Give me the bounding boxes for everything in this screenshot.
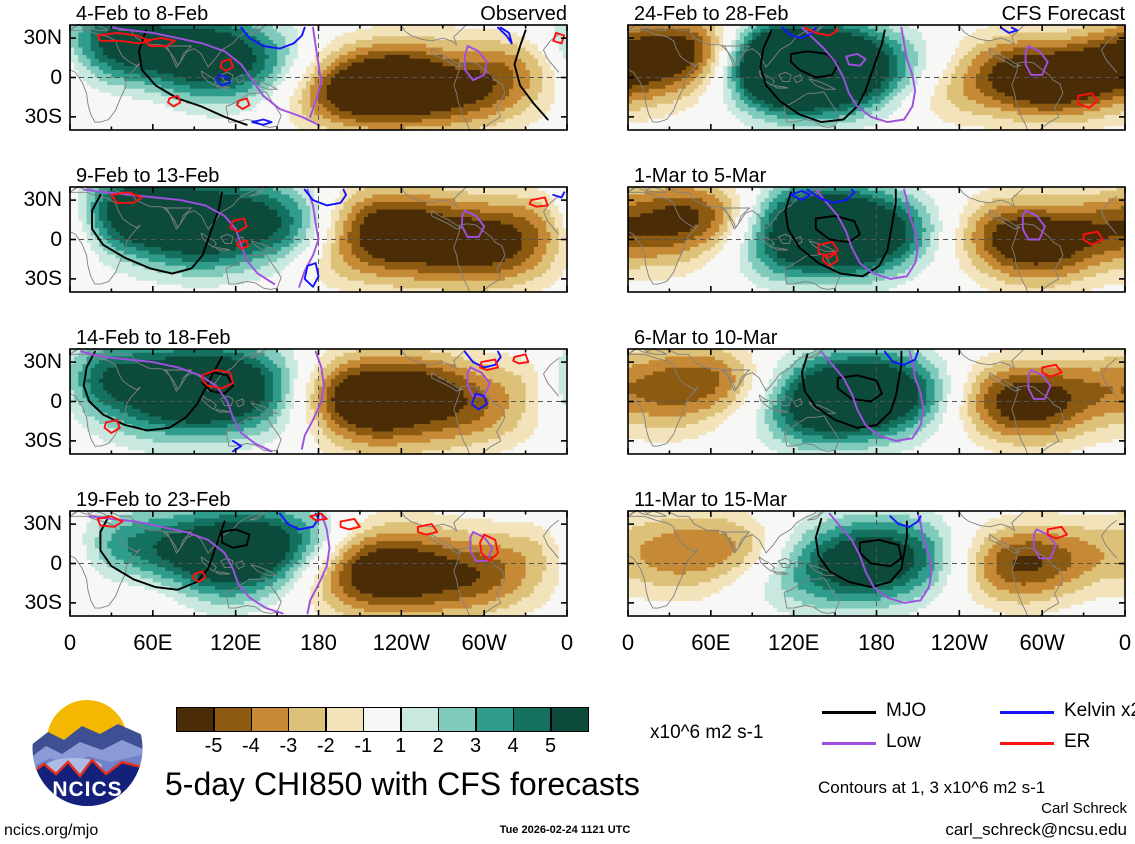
map-panel xyxy=(627,186,1126,293)
panel-title: 14-Feb to 18-Feb xyxy=(76,328,231,348)
column-header: Observed xyxy=(70,4,567,24)
colorbar-swatch xyxy=(363,707,401,732)
panel-title: 6-Mar to 10-Mar xyxy=(634,328,777,348)
x-axis-tick-label: 0 xyxy=(583,632,673,654)
colorbar-swatch xyxy=(401,707,439,732)
map-panel xyxy=(627,510,1126,617)
x-axis-tick-label: 180 xyxy=(274,632,364,654)
x-axis-tick-label: 0 xyxy=(1080,632,1135,654)
author-name: Carl Schreck xyxy=(1041,800,1127,817)
colorbar-swatch xyxy=(476,707,514,732)
y-axis-tick-label: 30S xyxy=(0,592,62,613)
map-panel xyxy=(69,186,568,293)
x-axis-tick-label: 60E xyxy=(108,632,198,654)
legend-line-swatch xyxy=(822,742,876,745)
x-axis-tick-label: 60W xyxy=(997,632,1087,654)
map-panel xyxy=(69,348,568,455)
y-axis-tick-label: 30S xyxy=(0,268,62,289)
colorbar-swatch xyxy=(214,707,252,732)
panel-title: 19-Feb to 23-Feb xyxy=(76,490,231,510)
legend-label: MJO xyxy=(886,700,926,722)
panel-title: 1-Mar to 5-Mar xyxy=(634,166,766,186)
legend-line-swatch xyxy=(1000,711,1054,714)
y-axis-tick-label: 30N xyxy=(0,513,62,534)
y-axis-tick-label: 0 xyxy=(0,391,62,412)
colorbar-swatch xyxy=(326,707,364,732)
y-axis-tick-label: 30S xyxy=(0,430,62,451)
column-header: CFS Forecast xyxy=(628,4,1125,24)
colorbar-swatch xyxy=(438,707,476,732)
map-panel xyxy=(627,348,1126,455)
colorbar-swatch xyxy=(513,707,551,732)
x-axis-tick-label: 120E xyxy=(749,632,839,654)
y-axis-tick-label: 30S xyxy=(0,106,62,127)
contours-note: Contours at 1, 3 x10^6 m2 s-1 xyxy=(818,778,1045,798)
map-panel xyxy=(69,510,568,617)
y-axis-tick-label: 0 xyxy=(0,553,62,574)
x-axis-tick-label: 60W xyxy=(439,632,529,654)
y-axis-tick-label: 30N xyxy=(0,351,62,372)
colorbar-swatch xyxy=(251,707,289,732)
x-axis-tick-label: 120W xyxy=(356,632,446,654)
legend-line-swatch xyxy=(1000,742,1054,745)
colorbar-tick-label: 5 xyxy=(521,735,581,758)
legend-label: Kelvin x2 xyxy=(1064,700,1135,722)
legend-label: Low xyxy=(886,731,921,753)
ncics-logo: NCICS xyxy=(30,688,145,808)
site-url[interactable]: ncics.org/mjo xyxy=(4,822,98,840)
y-axis-tick-label: 30N xyxy=(0,189,62,210)
map-panel xyxy=(69,24,568,131)
y-axis-tick-label: 0 xyxy=(0,229,62,250)
x-axis-tick-label: 0 xyxy=(25,632,115,654)
author-email: carl_schreck@ncsu.edu xyxy=(945,820,1127,840)
colorbar-swatch xyxy=(551,707,589,732)
x-axis-tick-label: 60E xyxy=(666,632,756,654)
y-axis-tick-label: 0 xyxy=(0,67,62,88)
colorbar-swatch xyxy=(288,707,326,732)
panel-title: 9-Feb to 13-Feb xyxy=(76,166,219,186)
x-axis-tick-label: 180 xyxy=(832,632,922,654)
map-panel xyxy=(627,24,1126,131)
x-axis-tick-label: 120E xyxy=(191,632,281,654)
legend-label: ER xyxy=(1064,731,1090,753)
generation-timestamp: Tue 2026-02-24 1121 UTC xyxy=(440,824,690,836)
y-axis-tick-label: 30N xyxy=(0,27,62,48)
panel-title: 11-Mar to 15-Mar xyxy=(634,490,787,510)
x-axis-tick-label: 120W xyxy=(914,632,1004,654)
colorbar-unit-label: x10^6 m2 s-1 xyxy=(650,722,763,744)
colorbar-swatch xyxy=(176,707,214,732)
legend-line-swatch xyxy=(822,711,876,714)
page-title: 5-day CHI850 with CFS forecasts xyxy=(165,766,640,803)
